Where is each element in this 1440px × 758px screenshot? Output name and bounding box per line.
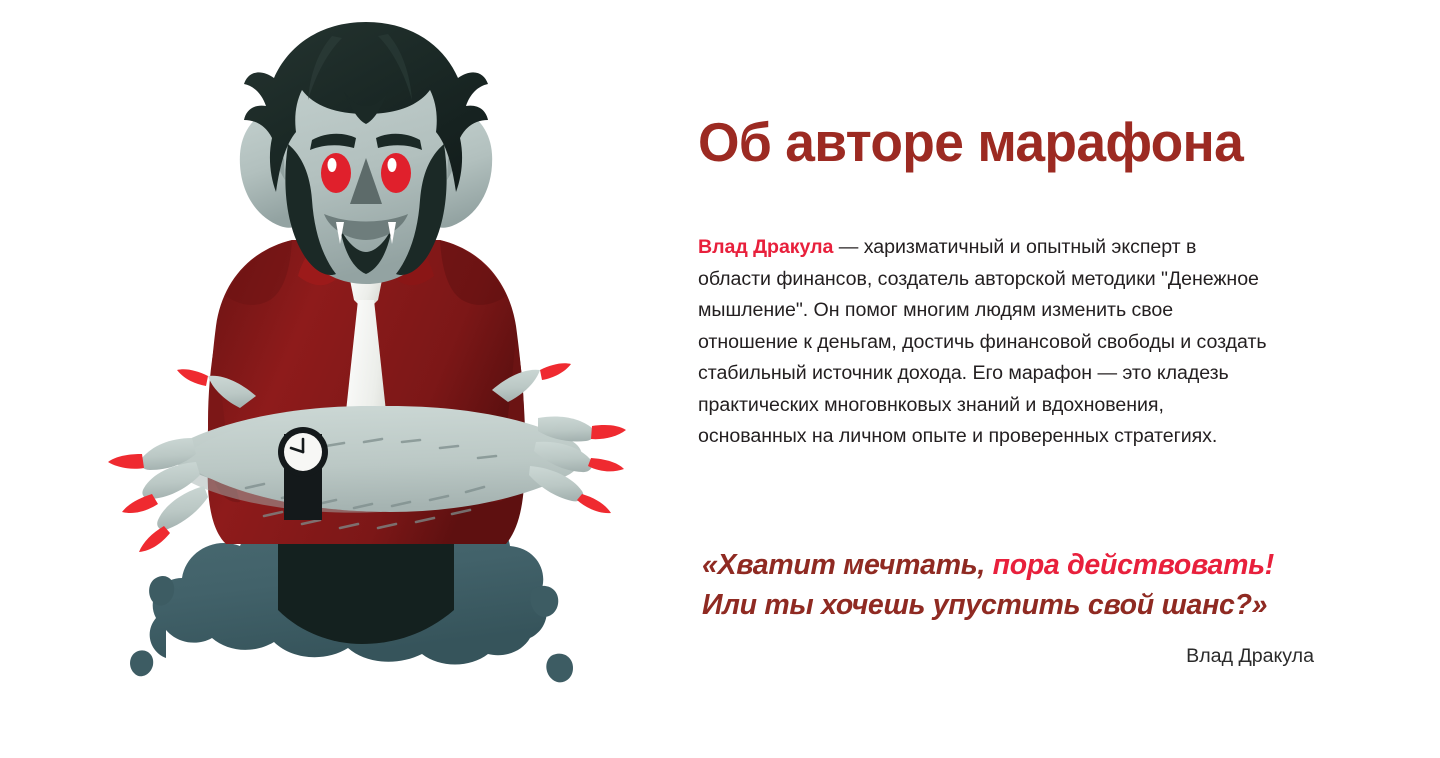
about-author-text-column: Об авторе марафона Влад Дракула — харизм… [698, 0, 1338, 758]
quote-attribution: Влад Дракула [1186, 642, 1314, 670]
quote-line-2: Или ты хочешь упустить свой шанс?» [702, 585, 1334, 625]
nail [139, 526, 170, 552]
quote-line-1-accent: пора действовать! [985, 549, 1274, 581]
nail [122, 494, 158, 513]
nail [540, 363, 571, 380]
wristwatch [278, 427, 328, 520]
author-quote: «Хватит мечтать, пора действовать! Или т… [702, 545, 1334, 625]
eye-left [321, 153, 351, 193]
author-bio-paragraph: Влад Дракула — харизматичный и опытный э… [698, 232, 1273, 453]
nail [108, 454, 144, 469]
slide-about-author: Об авторе марафона Влад Дракула — харизм… [0, 0, 1440, 758]
quote-line-1: «Хватит мечтать, пора действовать! [702, 545, 1334, 585]
author-name-highlight: Влад Дракула [698, 236, 833, 258]
author-bio-text: — харизматичный и опытный эксперт в обла… [698, 236, 1267, 447]
nail [588, 458, 624, 471]
page-title: Об авторе марафона [698, 112, 1243, 172]
quote-line-1-base: «Хватит мечтать, [702, 549, 985, 581]
vampire-character-illustration [96, 18, 636, 748]
nail [591, 425, 626, 439]
eye-right [381, 153, 411, 193]
nail [577, 494, 611, 513]
nail [177, 369, 208, 386]
